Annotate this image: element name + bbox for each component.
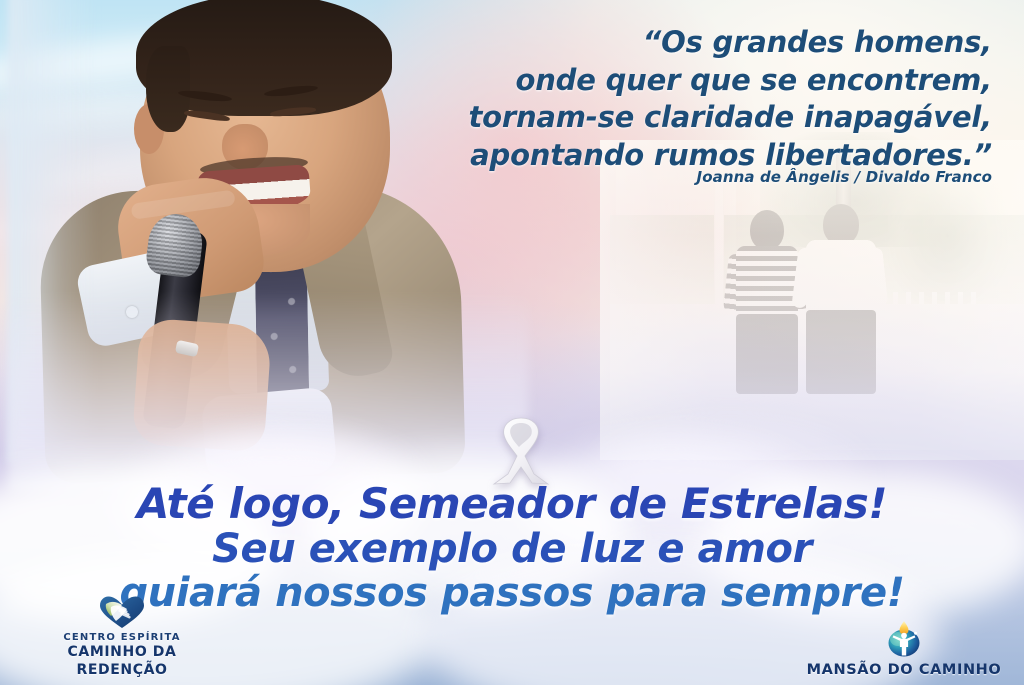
headline-line-2: Seu exemplo de luz e amor bbox=[0, 529, 1024, 571]
memorial-poster: “Os grandes homens, onde quer que se enc… bbox=[0, 0, 1024, 685]
heart-hands-logo-icon bbox=[98, 595, 146, 629]
scene-fade-overlay bbox=[600, 140, 1024, 460]
headline-line-1: Até logo, Semeador de Estrelas! bbox=[0, 482, 1024, 526]
quote-line-3: tornam-se claridade inapagável, bbox=[432, 99, 992, 137]
portrait-hair bbox=[136, 0, 392, 116]
logo-left-caption-large: CAMINHO DA REDENÇÃO bbox=[22, 644, 222, 679]
logo-centro-espirita-caminho-da-redencao[interactable]: CENTRO ESPÍRITA CAMINHO DA REDENÇÃO bbox=[22, 595, 222, 680]
logo-left-caption-small: CENTRO ESPÍRITA bbox=[22, 632, 222, 645]
logo-right-caption-large: MANSÃO DO CAMINHO bbox=[794, 661, 1014, 679]
quote-line-1: “Os grandes homens, bbox=[432, 24, 992, 62]
globe-figure-flame-logo-icon bbox=[883, 618, 925, 658]
quote-line-2: onde quer que se encontrem, bbox=[432, 62, 992, 100]
quote-attribution: Joanna de Ângelis / Divaldo Franco bbox=[432, 168, 992, 186]
logo-mansao-do-caminho[interactable]: MANSÃO DO CAMINHO bbox=[794, 618, 1014, 679]
portrait-bottom-fade bbox=[8, 292, 528, 492]
portrait-photo bbox=[8, 0, 478, 462]
quote-text: “Os grandes homens, onde quer que se enc… bbox=[432, 24, 992, 175]
